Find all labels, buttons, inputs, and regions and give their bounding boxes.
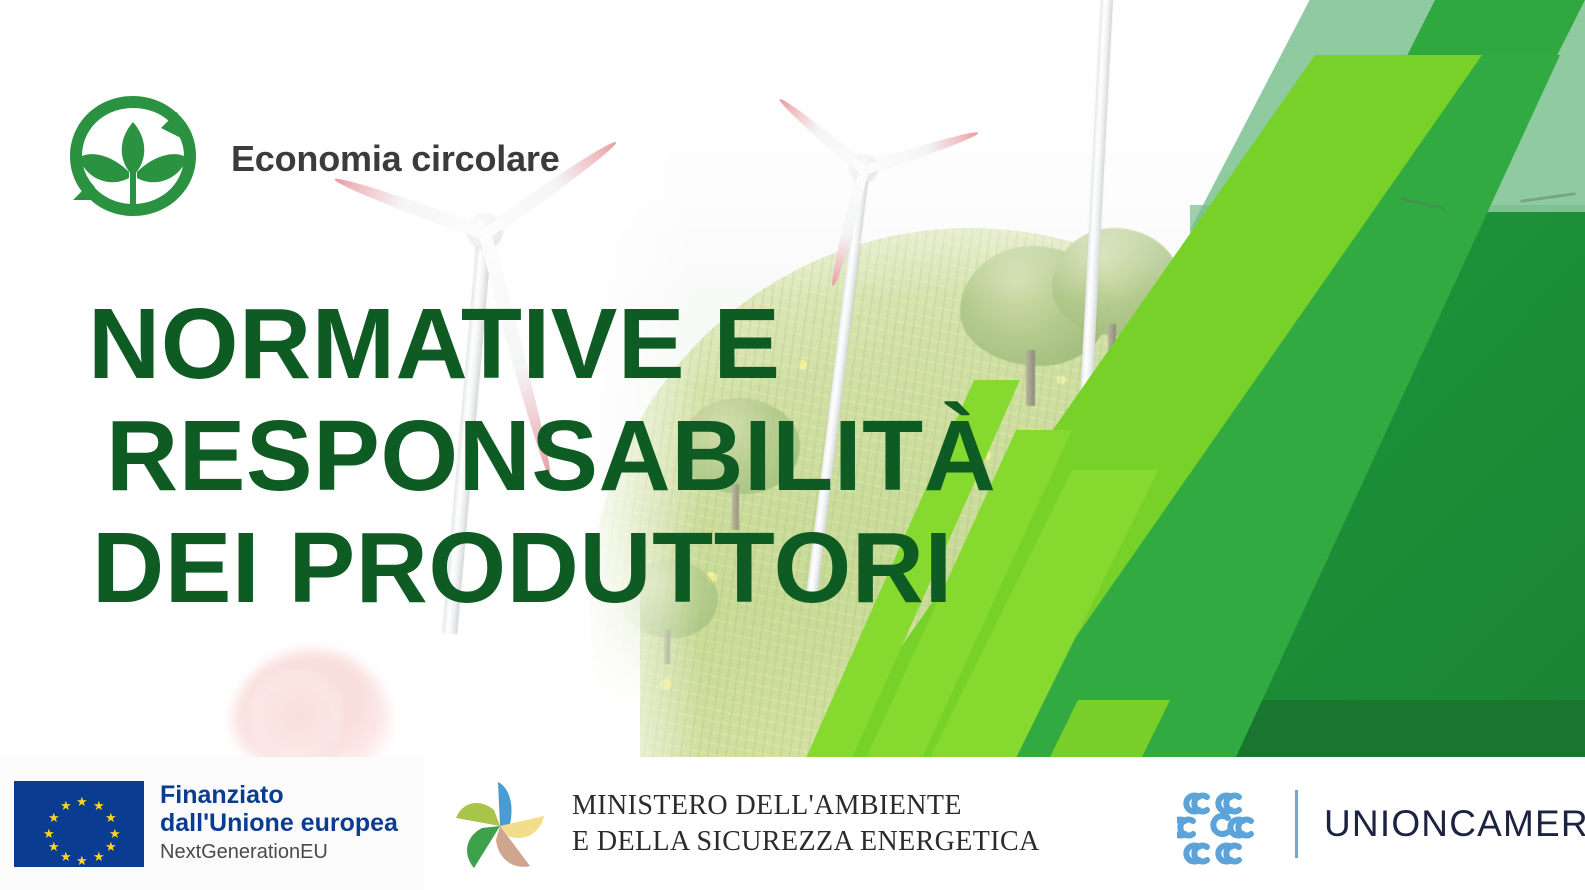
eu-line-3: NextGenerationEU xyxy=(160,837,398,867)
title-line-2: RESPONSABILITÀ xyxy=(106,400,1268,512)
ministry-logo: MINISTERO DELL'AMBIENTE E DELLA SICUREZZ… xyxy=(424,757,1155,890)
hero-section: Economia circolare NORMATIVE E RESPONSAB… xyxy=(0,0,1585,757)
brand-label: Economia circolare xyxy=(231,138,560,180)
footer-logo-bar: ★ ★ ★ ★ ★ ★ ★ ★ ★ ★ ★ ★ Finanziato dall'… xyxy=(0,757,1585,890)
eu-funding-text: Finanziato dall'Unione europea NextGener… xyxy=(160,781,398,867)
ministry-line-1: MINISTERO DELL'AMBIENTE xyxy=(572,788,1040,823)
blurred-flower-petal xyxy=(246,672,342,757)
slide-root: Economia circolare NORMATIVE E RESPONSAB… xyxy=(0,0,1585,890)
circular-economy-leaf-recycle-icon xyxy=(57,88,209,230)
page-title: NORMATIVE E RESPONSABILITÀ DEI PRODUTTOR… xyxy=(88,288,1268,624)
title-line-1: NORMATIVE E xyxy=(88,288,1268,400)
brand-lockup: Economia circolare xyxy=(57,88,560,230)
eu-flag-icon: ★ ★ ★ ★ ★ ★ ★ ★ ★ ★ ★ ★ xyxy=(14,781,144,867)
unioncamere-rosette-icon xyxy=(1177,781,1269,867)
eu-line-2: dall'Unione europea xyxy=(160,809,398,837)
ministry-pinwheel-star-icon xyxy=(448,774,552,874)
unioncamere-label: UNIONCAMERE xyxy=(1324,803,1585,845)
ministry-line-2: E DELLA SICUREZZA ENERGETICA xyxy=(572,824,1040,859)
logo-divider xyxy=(1295,790,1298,858)
ministry-text: MINISTERO DELL'AMBIENTE E DELLA SICUREZZ… xyxy=(572,788,1040,859)
title-line-3: DEI PRODUTTORI xyxy=(92,512,1268,624)
unioncamere-logo: UNIONCAMERE xyxy=(1155,757,1585,890)
eu-line-1: Finanziato xyxy=(160,781,398,809)
eu-funding-logo: ★ ★ ★ ★ ★ ★ ★ ★ ★ ★ ★ ★ Finanziato dall'… xyxy=(0,757,424,890)
